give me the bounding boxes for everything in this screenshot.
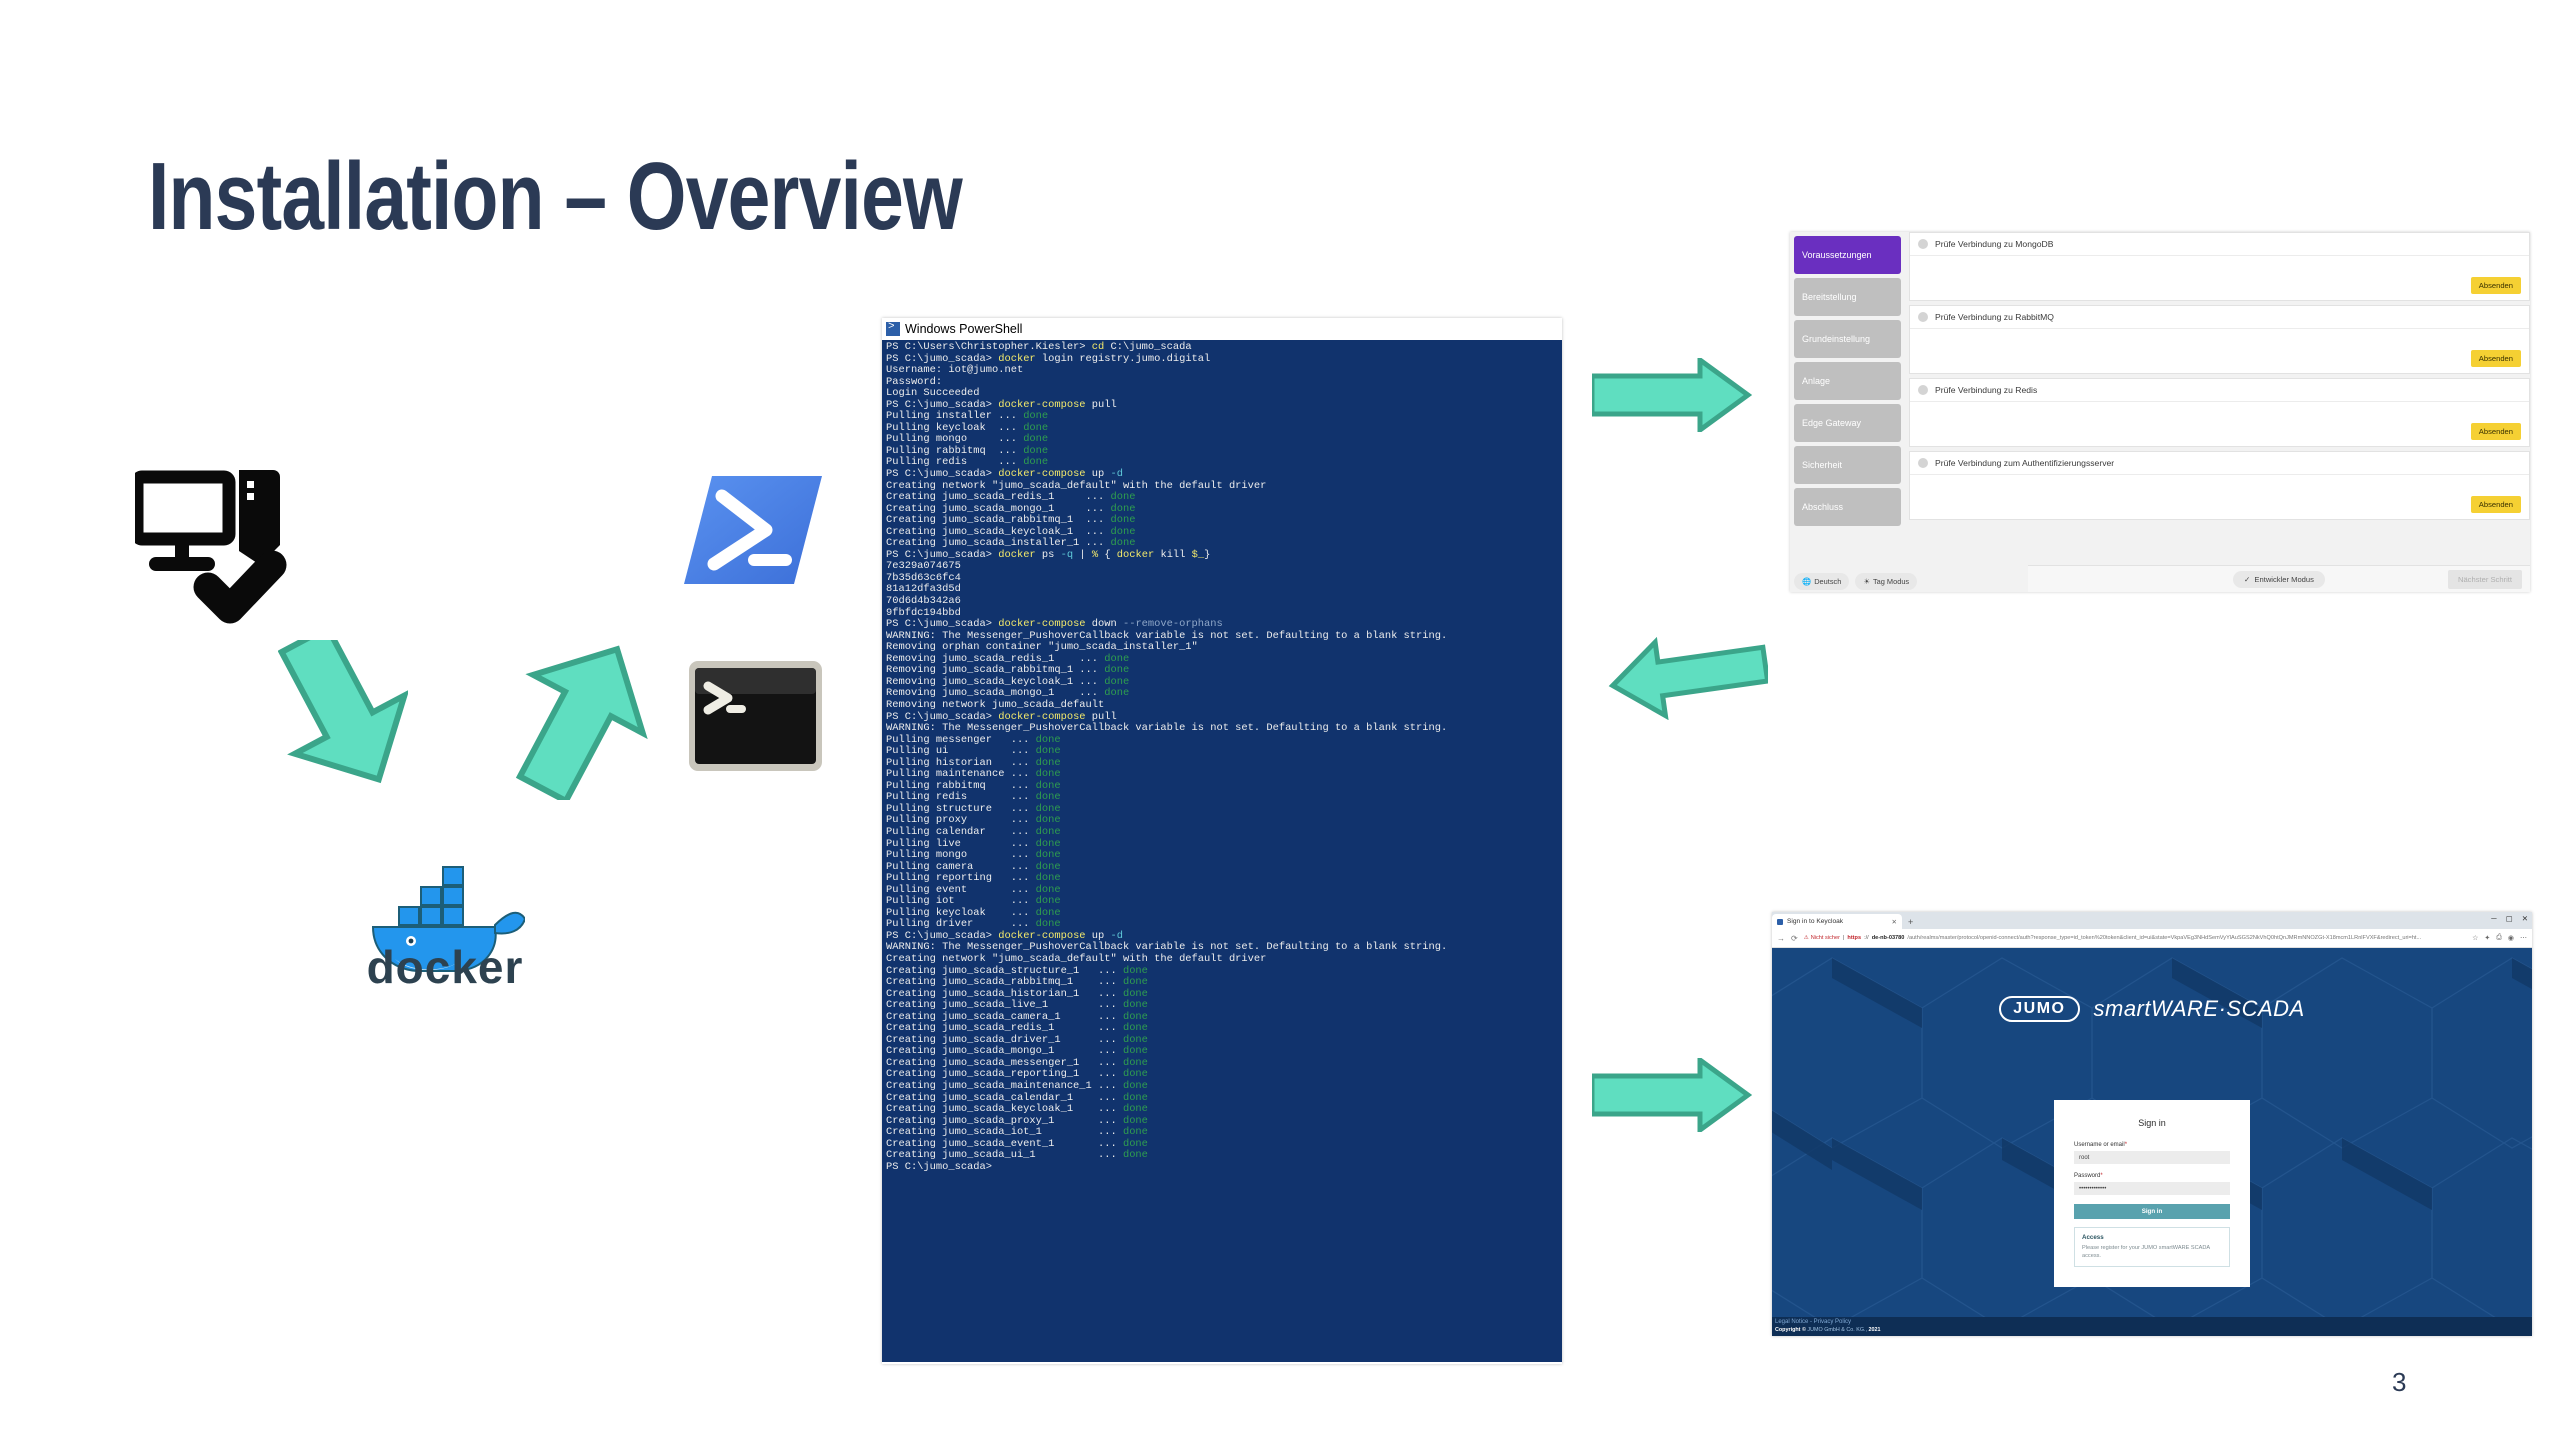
terminal-text: done (1110, 526, 1135, 538)
next-step-button[interactable]: Nächster Schritt (2448, 570, 2522, 589)
wizard-step-label: Sicherheit (1802, 460, 1842, 470)
terminal-text: docker-compose (998, 399, 1085, 411)
submit-button[interactable]: Absenden (2471, 350, 2521, 367)
terminal-text: done (1104, 687, 1129, 699)
keycloak-favicon (1777, 919, 1783, 925)
password-label-text: Password (2074, 1173, 2100, 1179)
terminal-text: PS C:\jumo_scada> (886, 549, 998, 561)
page-title: Installation – Overview (148, 142, 962, 252)
terminal-text: PS C:\Users\Christopher.Kiesler> (886, 341, 1092, 353)
terminal-text: up (1086, 468, 1111, 480)
keycloak-login-page: JUMO smartWARE·SCADA Sign in Username or… (1772, 948, 2532, 1336)
terminal-text: C:\jumo_scada (1104, 341, 1191, 353)
terminal-text: Removing jumo_scada_mongo_1 ... (886, 687, 1104, 699)
wizard-step-edge-gateway[interactable]: Edge Gateway (1794, 404, 1901, 442)
collections-icon[interactable]: ✦ (2484, 934, 2490, 942)
terminal-text: done (1036, 734, 1061, 746)
terminal-icon (688, 660, 823, 772)
terminal-text: Removing jumo_scada_rabbitmq_1 ... (886, 664, 1104, 676)
footer-copyright: Copyright © JUMO GmbH & Co. KG., 2021 (1775, 1327, 2532, 1333)
wizard-step-voraussetzungen[interactable]: Voraussetzungen (1794, 236, 1901, 274)
insecure-warning: ⚠ Nicht sicher (1804, 935, 1840, 941)
warning-icon: ⚠ (1804, 935, 1809, 941)
terminal-text: docker-compose (998, 930, 1085, 942)
terminal-text: Pulling iot ... (886, 895, 1036, 907)
terminal-text: done (1036, 768, 1061, 780)
terminal-text: -q (1061, 549, 1073, 561)
developer-mode-label: Entwickler Modus (2254, 575, 2314, 584)
terminal-text: Creating jumo_scada_installer_1 ... (886, 537, 1110, 549)
terminal-text: 7b35d63c6fc4 (886, 572, 961, 584)
terminal-text: 9fbfdc194bbd (886, 607, 961, 619)
terminal-text: WARNING: The Messenger_PushoverCallback … (886, 722, 1447, 734)
url-divider: | (1843, 935, 1844, 941)
check-header: Prüfe Verbindung zu MongoDB (1910, 233, 2529, 256)
terminal-text: done (1104, 676, 1129, 688)
terminal-text: down (1086, 618, 1123, 630)
theme-toggle[interactable]: ☀ Tag Modus (1855, 573, 1917, 590)
terminal-text: Creating jumo_scada_ui_1 ... (886, 1149, 1123, 1161)
connection-check-card: Prüfe Verbindung zu MongoDBAbsenden (1909, 232, 2530, 301)
favorite-icon[interactable]: ☆ (2472, 934, 2478, 942)
wizard-step-label: Abschluss (1802, 502, 1843, 512)
terminal-text: done (1123, 1068, 1148, 1080)
terminal-text: ps (1036, 549, 1061, 561)
terminal-text: pull (1086, 399, 1117, 411)
terminal-text: done (1023, 433, 1048, 445)
terminal-text: Pulling mongo ... (886, 849, 1036, 861)
terminal-text: done (1036, 803, 1061, 815)
access-notice: Access Please register for your JUMO sma… (2074, 1227, 2230, 1267)
language-label: Deutsch (1814, 577, 1841, 586)
terminal-text: Creating jumo_scada_redis_1 ... (886, 491, 1110, 503)
connection-check-list: Prüfe Verbindung zu MongoDBAbsendenPrüfe… (1909, 232, 2530, 520)
terminal-text: Pulling mongo ... (886, 433, 1023, 445)
check-label: Prüfe Verbindung zu RabbitMQ (1935, 312, 2054, 322)
terminal-text: PS C:\jumo_scada> (886, 618, 998, 630)
terminal-text: Removing jumo_scada_redis_1 ... (886, 653, 1104, 665)
url-path: /auth/realms/master/protocol/openid-conn… (1907, 935, 2421, 941)
docker-wordmark: docker (355, 940, 535, 994)
product-name: smartWARE·SCADA (2094, 996, 2305, 1022)
check-body: Absenden (1910, 256, 2529, 300)
submit-button[interactable]: Absenden (2471, 423, 2521, 440)
terminal-text: PS C:\jumo_scada> (886, 353, 998, 365)
wizard-content-area: Prüfe Verbindung zu MongoDBAbsendenPrüfe… (1909, 232, 2530, 592)
terminal-line: 70d6d4b342a6 (886, 596, 1558, 608)
terminal-text: } (1204, 549, 1210, 561)
terminal-text: done (1036, 907, 1061, 919)
terminal-text: 70d6d4b342a6 (886, 595, 961, 607)
forward-icon[interactable]: → (1777, 934, 1785, 943)
terminal-text: done (1123, 999, 1148, 1011)
terminal-text: Creating jumo_scada_mongo_1 ... (886, 1045, 1123, 1057)
terminal-text: done (1036, 884, 1061, 896)
wizard-step-sicherheit[interactable]: Sicherheit (1794, 446, 1901, 484)
theme-label: Tag Modus (1873, 577, 1909, 586)
tab-title: Sign in to Keycloak (1787, 918, 1887, 925)
powershell-icon-small (886, 322, 900, 336)
terminal-text: PS C:\jumo_scada> (886, 1161, 992, 1173)
url-bar[interactable]: ⚠ Nicht sicher | https :// de-nb-03780 /… (1804, 932, 2466, 944)
terminal-text: docker (998, 353, 1035, 365)
terminal-text: done (1023, 422, 1048, 434)
terminal-text: done (1110, 537, 1135, 549)
terminal-title: Windows PowerShell (905, 322, 1022, 336)
check-body: Absenden (1910, 329, 2529, 373)
terminal-text: done (1023, 456, 1048, 468)
terminal-text: Pulling live ... (886, 838, 1036, 850)
terminal-text: Creating jumo_scada_redis_1 ... (886, 1022, 1123, 1034)
terminal-line: PS C:\jumo_scada> docker ps -q | % { doc… (886, 550, 1558, 562)
terminal-text: Removing orphan container "jumo_scada_in… (886, 641, 1198, 653)
signin-heading: Sign in (2074, 1118, 2230, 1128)
terminal-text: Creating jumo_scada_structure_1 ... (886, 965, 1123, 977)
terminal-text: Pulling camera ... (886, 861, 1036, 873)
terminal-text: done (1123, 988, 1148, 1000)
password-label: Password* (2074, 1173, 2230, 1179)
terminal-text: kill (1154, 549, 1191, 561)
url-scheme: https (1847, 935, 1861, 941)
terminal-text: Pulling keycloak ... (886, 907, 1036, 919)
terminal-text: done (1036, 757, 1061, 769)
terminal-text: | (1073, 549, 1092, 561)
terminal-text: Username: iot@jumo.net (886, 364, 1023, 376)
terminal-text: Creating jumo_scada_calendar_1 ... (886, 1092, 1123, 1104)
terminal-text: cd (1092, 341, 1104, 353)
terminal-text: Login Succeeded (886, 387, 980, 399)
close-icon[interactable]: ✕ (1891, 918, 1897, 926)
terminal-text: Creating jumo_scada_maintenance_1 ... (886, 1080, 1123, 1092)
terminal-text: Pulling messenger ... (886, 734, 1036, 746)
wizard-step-grundeinstellung[interactable]: Grundeinstellung (1794, 320, 1901, 358)
terminal-text: Pulling event ... (886, 884, 1036, 896)
check-body: Absenden (1910, 402, 2529, 446)
terminal-line: 7e329a074675 (886, 561, 1558, 573)
terminal-text: Pulling ui ... (886, 745, 1036, 757)
terminal-text: Pulling keycloak ... (886, 422, 1023, 434)
check-header: Prüfe Verbindung zum Authentifizierungss… (1910, 452, 2529, 475)
terminal-text: done (1123, 1126, 1148, 1138)
terminal-text: Pulling rabbitmq ... (886, 445, 1023, 457)
globe-icon: 🌐 (1802, 577, 1811, 586)
terminal-text: done (1123, 1034, 1148, 1046)
terminal-text: done (1123, 1057, 1148, 1069)
close-window-icon[interactable]: ✕ (2522, 914, 2528, 923)
check-header: Prüfe Verbindung zu RabbitMQ (1910, 306, 2529, 329)
terminal-text: Creating network "jumo_scada_default" wi… (886, 953, 1266, 965)
check-icon: ✓ (2244, 575, 2250, 584)
wizard-step-label: Grundeinstellung (1802, 334, 1870, 344)
terminal-text: done (1123, 965, 1148, 977)
browser-tab[interactable]: Sign in to Keycloak ✕ (1772, 914, 1902, 929)
terminal-text: done (1036, 791, 1061, 803)
terminal-line: Username: iot@jumo.net (886, 365, 1558, 377)
status-indicator-icon (1918, 458, 1928, 468)
terminal-text: done (1023, 410, 1048, 422)
terminal-text: done (1036, 780, 1061, 792)
submit-button[interactable]: Absenden (2471, 496, 2521, 513)
terminal-text: Creating jumo_scada_reporting_1 ... (886, 1068, 1123, 1080)
terminal-text: done (1123, 976, 1148, 988)
username-label: Username or email* (2074, 1142, 2230, 1148)
username-input[interactable]: root (2074, 1151, 2230, 1164)
terminal-text: Creating jumo_scada_live_1 ... (886, 999, 1123, 1011)
terminal-text: done (1110, 514, 1135, 526)
terminal-text: Creating jumo_scada_mongo_1 ... (886, 503, 1110, 515)
arrow-left-from-installer (1608, 630, 1768, 720)
page-number: 3 (2392, 1367, 2406, 1398)
check-body: Absenden (1910, 475, 2529, 519)
security-label: Nicht sicher (1811, 935, 1840, 941)
terminal-text: PS C:\jumo_scada> (886, 468, 998, 480)
terminal-text: Creating jumo_scada_messenger_1 ... (886, 1057, 1123, 1069)
terminal-text: done (1036, 814, 1061, 826)
terminal-text: Creating jumo_scada_driver_1 ... (886, 1034, 1123, 1046)
browser-toolbar: → ⟳ ⚠ Nicht sicher | https :// de-nb-037… (1772, 929, 2532, 948)
terminal-text: done (1036, 872, 1061, 884)
terminal-text: 81a12dfa3d5d (886, 583, 961, 595)
login-card: Sign in Username or email* root Password… (2054, 1100, 2250, 1287)
terminal-text: done (1123, 1092, 1148, 1104)
wizard-step-label: Bereitstellung (1802, 292, 1857, 302)
terminal-text: done (1123, 1138, 1148, 1150)
powershell-window[interactable]: Windows PowerShell PS C:\Users\Christoph… (882, 318, 1562, 1364)
terminal-titlebar: Windows PowerShell (882, 318, 1562, 340)
terminal-text: done (1036, 849, 1061, 861)
terminal-text: docker-compose (998, 618, 1085, 630)
terminal-text: Password: (886, 376, 942, 388)
wizard-step-bereitstellung[interactable]: Bereitstellung (1794, 278, 1901, 316)
terminal-text: done (1110, 503, 1135, 515)
status-indicator-icon (1918, 239, 1928, 249)
share-icon[interactable]: ⎙ (2496, 934, 2502, 942)
brand-header: JUMO smartWARE·SCADA (1772, 996, 2532, 1022)
terminal-line: 81a12dfa3d5d (886, 584, 1558, 596)
sun-icon: ☀ (1863, 577, 1870, 586)
language-selector[interactable]: 🌐 Deutsch (1794, 573, 1849, 590)
jumo-logo: JUMO (1999, 996, 2079, 1022)
terminal-text: PS C:\jumo_scada> (886, 930, 998, 942)
terminal-text: Pulling structure ... (886, 803, 1036, 815)
arrow-down-left (278, 640, 408, 800)
connection-check-card: Prüfe Verbindung zu RedisAbsenden (1909, 378, 2530, 447)
arrow-up-right (500, 620, 660, 800)
terminal-text: Creating jumo_scada_iot_1 ... (886, 1126, 1123, 1138)
terminal-text: PS C:\jumo_scada> (886, 399, 998, 411)
arrow-right-installer (1592, 358, 1752, 432)
terminal-text: done (1036, 745, 1061, 757)
url-sep: :// (1864, 935, 1869, 941)
terminal-text: done (1036, 861, 1061, 873)
terminal-text: login registry.jumo.digital (1036, 353, 1211, 365)
copyright-year: 2021 (1869, 1327, 1881, 1333)
terminal-text: Pulling historian ... (886, 757, 1036, 769)
terminal-text: Creating jumo_scada_keycloak_1 ... (886, 526, 1110, 538)
terminal-text: 7e329a074675 (886, 560, 961, 572)
terminal-text: done (1104, 653, 1129, 665)
password-input[interactable]: ••••••••••••• (2074, 1182, 2230, 1195)
terminal-text: done (1123, 1103, 1148, 1115)
terminal-text: done (1123, 1022, 1148, 1034)
terminal-text: Creating jumo_scada_proxy_1 ... (886, 1115, 1123, 1127)
terminal-text: done (1036, 826, 1061, 838)
terminal-text: done (1123, 1149, 1148, 1161)
terminal-text: docker (1117, 549, 1154, 561)
terminal-text: done (1023, 445, 1048, 457)
profile-icon[interactable]: ◉ (2508, 934, 2514, 942)
wizard-footer: ✓ Entwickler Modus Nächster Schritt (2028, 565, 2530, 592)
browser-window[interactable]: Sign in to Keycloak ✕ + ─ ▢ ✕ → ⟳ ⚠ Nich… (1772, 912, 2532, 1336)
terminal-text: Creating jumo_scada_rabbitmq_1 ... (886, 976, 1123, 988)
terminal-line: PS C:\jumo_scada> (886, 1162, 1558, 1174)
terminal-text: { (1098, 549, 1117, 561)
terminal-text: done (1104, 664, 1129, 676)
wizard-step-label: Edge Gateway (1802, 418, 1861, 428)
terminal-text: Pulling installer ... (886, 410, 1023, 422)
copyright-body: JUMO GmbH & Co. KG., (1807, 1327, 1868, 1333)
terminal-output[interactable]: PS C:\Users\Christopher.Kiesler> cd C:\j… (882, 340, 1562, 1362)
terminal-text: $_ (1192, 549, 1204, 561)
terminal-text: docker (998, 549, 1035, 561)
new-tab-button[interactable]: + (1908, 918, 1913, 929)
status-indicator-icon (1918, 312, 1928, 322)
terminal-text: -d (1111, 468, 1123, 480)
terminal-text: done (1123, 1045, 1148, 1057)
terminal-text: Pulling rabbitmq ... (886, 780, 1036, 792)
status-indicator-icon (1918, 385, 1928, 395)
terminal-text: Creating jumo_scada_event_1 ... (886, 1138, 1123, 1150)
wizard-step-label: Anlage (1802, 376, 1830, 386)
signin-button[interactable]: Sign in (2074, 1204, 2230, 1219)
terminal-text: Creating network "jumo_scada_default" wi… (886, 480, 1266, 492)
username-label-text: Username or email (2074, 1142, 2125, 1148)
pc-install-check-icon (135, 465, 305, 630)
terminal-text: done (1123, 1115, 1148, 1127)
browser-tabstrip: Sign in to Keycloak ✕ + ─ ▢ ✕ (1772, 912, 2532, 929)
terminal-text: done (1110, 491, 1135, 503)
check-label: Prüfe Verbindung zu MongoDB (1935, 239, 2053, 249)
terminal-text: done (1036, 838, 1061, 850)
page-footer: Legal Notice - Privacy Policy Copyright … (1772, 1317, 2532, 1336)
wizard-global-controls: 🌐 Deutsch ☀ Tag Modus (1794, 573, 1917, 590)
terminal-text: done (1123, 1011, 1148, 1023)
access-text: Please register for your JUMO smartWARE … (2082, 1244, 2222, 1260)
terminal-text: Creating jumo_scada_historian_1 ... (886, 988, 1123, 1000)
connection-check-card: Prüfe Verbindung zu RabbitMQAbsenden (1909, 305, 2530, 374)
powershell-icon (680, 470, 825, 590)
terminal-text: --remove-orphans (1123, 618, 1223, 630)
wizard-step-anlage[interactable]: Anlage (1794, 362, 1901, 400)
terminal-text: done (1036, 895, 1061, 907)
footer-links[interactable]: Legal Notice - Privacy Policy (1775, 1319, 2532, 1325)
check-label: Prüfe Verbindung zum Authentifizierungss… (1935, 458, 2114, 468)
maximize-icon[interactable]: ▢ (2506, 914, 2513, 923)
wizard-step-sidebar: VoraussetzungenBereitstellungGrundeinste… (1790, 232, 1905, 562)
access-title: Access (2082, 1234, 2222, 1241)
developer-mode-toggle[interactable]: ✓ Entwickler Modus (2233, 571, 2325, 588)
url-host: de-nb-03780 (1872, 935, 1905, 941)
minimize-icon[interactable]: ─ (2491, 914, 2496, 923)
reload-icon[interactable]: ⟳ (1791, 934, 1798, 943)
terminal-text: Creating jumo_scada_keycloak_1 ... (886, 1103, 1123, 1115)
terminal-text: PS C:\jumo_scada> (886, 711, 998, 723)
wizard-step-abschluss[interactable]: Abschluss (1794, 488, 1901, 526)
required-star: * (2125, 1142, 2127, 1148)
terminal-text: Removing jumo_scada_keycloak_1 ... (886, 676, 1104, 688)
terminal-text: Removing network jumo_scada_default (886, 699, 1104, 711)
terminal-text: done (1036, 918, 1061, 930)
terminal-text: Pulling redis ... (886, 791, 1036, 803)
terminal-text: -d (1111, 930, 1123, 942)
terminal-text: Pulling calendar ... (886, 826, 1036, 838)
more-options-icon[interactable]: ⋯ (2520, 934, 2527, 942)
connection-check-card: Prüfe Verbindung zum Authentifizierungss… (1909, 451, 2530, 520)
terminal-text: Creating jumo_scada_camera_1 ... (886, 1011, 1123, 1023)
check-label: Prüfe Verbindung zu Redis (1935, 385, 2037, 395)
terminal-text: Pulling proxy ... (886, 814, 1036, 826)
terminal-text: Pulling redis ... (886, 456, 1023, 468)
check-header: Prüfe Verbindung zu Redis (1910, 379, 2529, 402)
window-controls: ─ ▢ ✕ (2491, 914, 2528, 923)
terminal-text: Pulling maintenance ... (886, 768, 1036, 780)
installer-wizard-window[interactable]: VoraussetzungenBereitstellungGrundeinste… (1790, 232, 2530, 592)
terminal-text: up (1086, 930, 1111, 942)
terminal-line: 7b35d63c6fc4 (886, 573, 1558, 585)
arrow-right-browser (1592, 1058, 1752, 1132)
terminal-text: Pulling driver ... (886, 918, 1036, 930)
terminal-text: done (1123, 1080, 1148, 1092)
terminal-text: Creating jumo_scada_rabbitmq_1 ... (886, 514, 1110, 526)
wizard-step-label: Voraussetzungen (1802, 250, 1872, 260)
terminal-text: WARNING: The Messenger_PushoverCallback … (886, 630, 1447, 642)
terminal-text: docker-compose (998, 711, 1085, 723)
submit-button[interactable]: Absenden (2471, 277, 2521, 294)
copyright-prefix: Copyright © (1775, 1327, 1807, 1333)
terminal-text: docker-compose (998, 468, 1085, 480)
terminal-line: Password: (886, 377, 1558, 389)
terminal-text: pull (1086, 711, 1117, 723)
terminal-text: WARNING: The Messenger_PushoverCallback … (886, 941, 1447, 953)
required-star: * (2100, 1173, 2102, 1179)
terminal-text: Pulling reporting ... (886, 872, 1036, 884)
